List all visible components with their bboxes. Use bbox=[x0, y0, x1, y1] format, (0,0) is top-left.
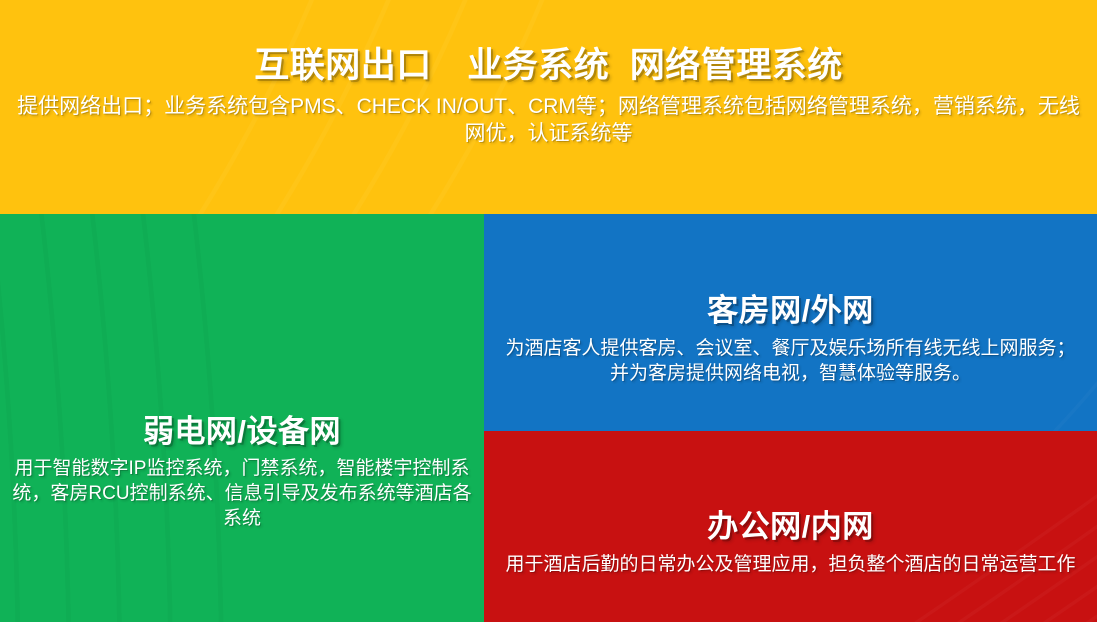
panel-content: 弱电网/设备网 用于智能数字IP监控系统，门禁系统，智能楼宇控制系统，客房RCU… bbox=[0, 305, 484, 532]
panel-content: 办公网/内网 用于酒店后勤的日常办公及管理应用，担负整个酒店的日常运营工作 bbox=[484, 476, 1097, 577]
panel-content: 客房网/外网 为酒店客人提供客房、会议室、餐厅及娱乐场所有线无线上网服务；并为客… bbox=[484, 258, 1097, 386]
panel-title: 客房网/外网 bbox=[488, 294, 1093, 329]
panel-description: 用于智能数字IP监控系统，门禁系统，智能楼宇控制系统，客房RCU控制系统、信息引… bbox=[4, 457, 480, 531]
slide-canvas: 互联网出口 业务系统 网络管理系统 提供网络出口；业务系统包含PMS、CHECK… bbox=[0, 0, 1097, 622]
panel-guestroom-external-network: 客房网/外网 为酒店客人提供客房、会议室、餐厅及娱乐场所有线无线上网服务；并为客… bbox=[484, 214, 1097, 431]
panel-description: 用于酒店后勤的日常办公及管理应用，担负整个酒店的日常运营工作 bbox=[488, 553, 1093, 578]
panel-content: 互联网出口 业务系统 网络管理系统 提供网络出口；业务系统包含PMS、CHECK… bbox=[0, 0, 1097, 148]
panel-description: 为酒店客人提供客房、会议室、餐厅及娱乐场所有线无线上网服务；并为客房提供网络电视… bbox=[488, 337, 1093, 386]
panel-weak-current-network: 弱电网/设备网 用于智能数字IP监控系统，门禁系统，智能楼宇控制系统，客房RCU… bbox=[0, 214, 484, 622]
panel-title: 弱电网/设备网 bbox=[4, 415, 480, 450]
panel-description: 提供网络出口；业务系统包含PMS、CHECK IN/OUT、CRM等；网络管理系… bbox=[4, 93, 1093, 148]
panel-office-internal-network: 办公网/内网 用于酒店后勤的日常办公及管理应用，担负整个酒店的日常运营工作 bbox=[484, 431, 1097, 622]
panel-title: 互联网出口 业务系统 网络管理系统 bbox=[4, 46, 1093, 85]
panel-title: 办公网/内网 bbox=[488, 510, 1093, 545]
panel-internet-exit: 互联网出口 业务系统 网络管理系统 提供网络出口；业务系统包含PMS、CHECK… bbox=[0, 0, 1097, 214]
